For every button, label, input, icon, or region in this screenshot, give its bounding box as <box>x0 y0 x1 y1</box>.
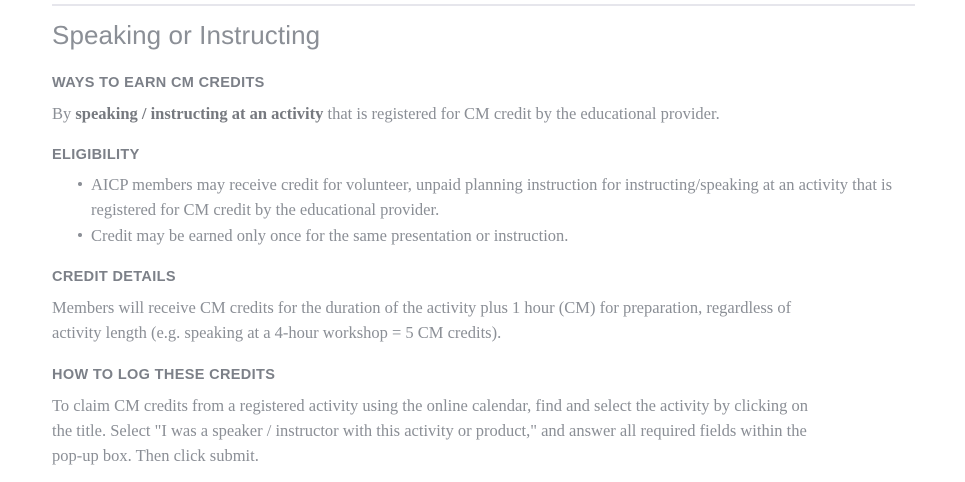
list-item-text: AICP members may receive credit for volu… <box>91 175 892 219</box>
eligibility-list: AICP members may receive credit for volu… <box>52 172 932 248</box>
section-heading-how-to-log: HOW TO LOG THESE CREDITS <box>52 366 932 384</box>
section-heading-ways-to-earn: WAYS TO EARN CM CREDITS <box>52 74 932 92</box>
bullet-dot-icon <box>78 233 82 237</box>
article-content: Speaking or Instructing WAYS TO EARN CM … <box>52 18 932 480</box>
page-title: Speaking or Instructing <box>52 18 932 52</box>
how-to-log-body: To claim CM credits from a registered ac… <box>52 393 812 468</box>
ways-to-earn-intro-prefix: By <box>52 104 75 123</box>
list-item: Credit may be earned only once for the s… <box>52 223 932 248</box>
list-item: AICP members may receive credit for volu… <box>52 172 932 222</box>
ways-to-earn-body: By speaking / instructing at an activity… <box>52 101 812 126</box>
ways-to-earn-intro-suffix: that is registered for CM credit by the … <box>323 104 719 123</box>
section-ways-to-earn: WAYS TO EARN CM CREDITS By speaking / in… <box>52 74 932 126</box>
section-heading-eligibility: ELIGIBILITY <box>52 146 932 164</box>
section-credit-details: CREDIT DETAILS Members will receive CM c… <box>52 268 932 345</box>
section-how-to-log: HOW TO LOG THESE CREDITS To claim CM cre… <box>52 366 932 468</box>
ways-to-earn-emphasis: speaking / instructing at an activity <box>75 104 323 123</box>
top-divider <box>52 4 915 6</box>
section-heading-credit-details: CREDIT DETAILS <box>52 268 932 286</box>
bullet-dot-icon <box>78 182 82 186</box>
page-container: Speaking or Instructing WAYS TO EARN CM … <box>0 0 965 482</box>
credit-details-body: Members will receive CM credits for the … <box>52 295 812 345</box>
section-eligibility: ELIGIBILITY AICP members may receive cre… <box>52 146 932 248</box>
list-item-text: Credit may be earned only once for the s… <box>91 226 568 245</box>
